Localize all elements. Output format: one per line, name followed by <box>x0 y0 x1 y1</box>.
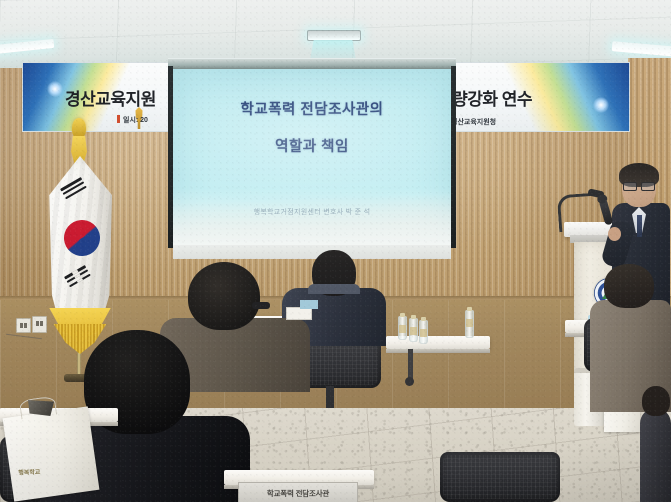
water-bottle <box>465 310 474 338</box>
speaker-tie <box>637 215 642 237</box>
chair-post <box>326 386 334 408</box>
water-bottle <box>398 316 407 340</box>
wall-outlet-left <box>16 318 31 333</box>
audience-head <box>604 264 654 308</box>
banner-right-org: 경산교육지원청 <box>451 117 496 127</box>
audience-eyeglasses-icon <box>252 302 270 309</box>
banner-right-sparkle <box>593 97 609 113</box>
speaker-glasses-icon <box>623 182 655 189</box>
desk-leg <box>408 349 413 379</box>
handout-title: 학교폭력 전담조사관 <box>239 488 357 499</box>
audience-far-right <box>640 398 671 502</box>
banner-left-date: 일시: 20 <box>123 115 148 125</box>
banner-left-title: 경산교육지원 <box>65 85 156 110</box>
audience-head <box>188 262 260 330</box>
blue-card-on-desk <box>300 300 318 309</box>
banner-left-sparkle <box>47 81 63 97</box>
projected-slide: 학교폭력 전담조사관의 역할과 책임 행복학교거점지원센터 변호사 박 준 석 <box>173 69 451 245</box>
water-bottle <box>419 320 428 344</box>
desk-caster <box>405 377 414 386</box>
audience-jacket <box>640 408 671 502</box>
chair-near-right <box>440 452 560 502</box>
banner-right: 역량강화 연수 경산교육지원청 <box>442 62 630 132</box>
paper-shopping-bag-left: 행복학교 <box>3 406 100 501</box>
water-bottle <box>409 318 418 342</box>
screen-glare <box>173 69 451 245</box>
ceiling-light-glow <box>310 40 356 60</box>
audience-head <box>642 386 670 416</box>
bag-label: 행복학교 <box>18 467 40 477</box>
screen-edge-right <box>451 66 456 248</box>
audience-collar <box>308 284 360 294</box>
speaker-hand <box>608 227 621 241</box>
seminar-room-photo: 경산교육지원 일시: 20 역량강화 연수 경산교육지원청 학교폭력 전담조사관… <box>0 0 671 502</box>
bag-contents <box>28 400 54 416</box>
projection-screen: 학교폭력 전담조사관의 역할과 책임 행복학교거점지원센터 변호사 박 준 석 <box>168 58 456 260</box>
printed-handout: 학교폭력 전담조사관 <box>238 482 358 502</box>
flag-finial-icon <box>72 118 86 138</box>
